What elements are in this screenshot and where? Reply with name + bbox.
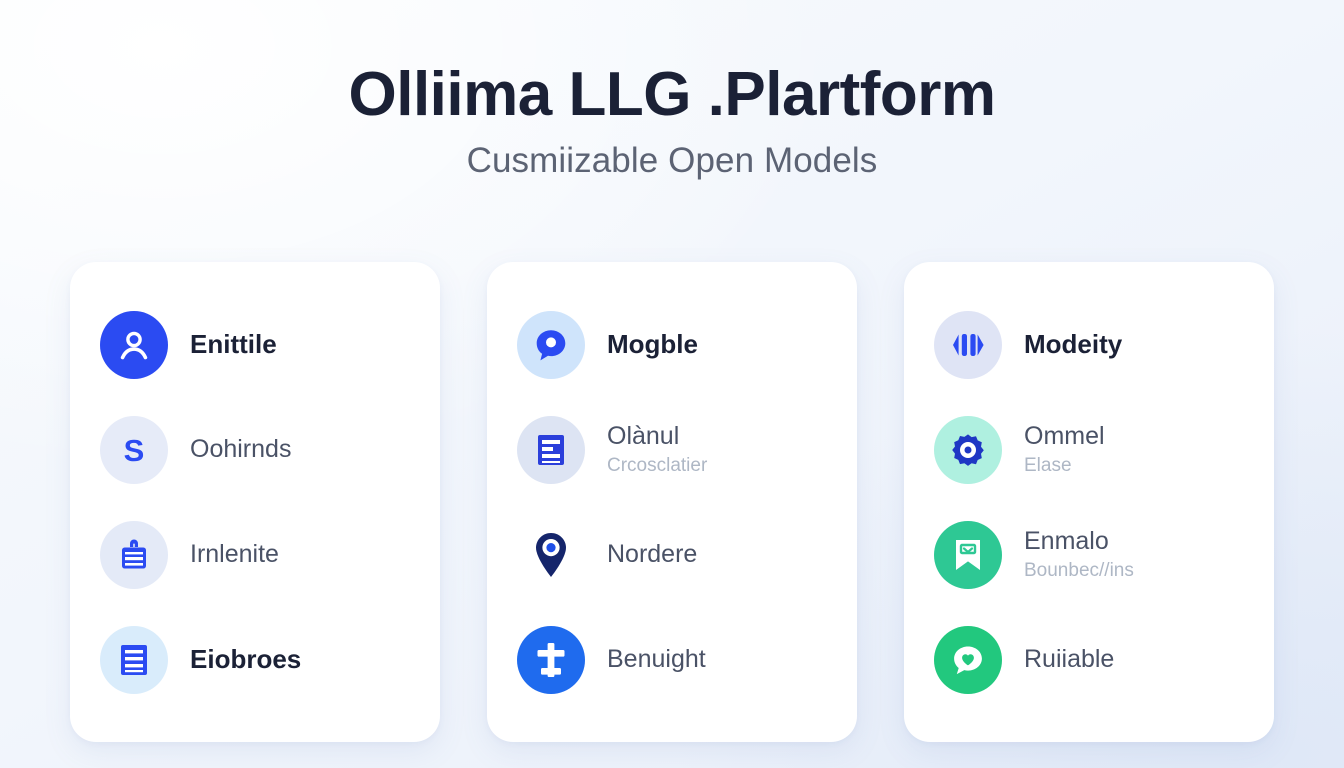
- bookmark-icon: [934, 521, 1002, 589]
- list-item-text: Oohirnds: [190, 435, 291, 465]
- list-item-label: Oohirnds: [190, 435, 291, 465]
- list-item[interactable]: Modeity: [934, 292, 1246, 397]
- list-item[interactable]: Ruiiable: [934, 607, 1246, 712]
- list-item[interactable]: OmmelElase: [934, 397, 1246, 502]
- list-item-label: Mogble: [607, 329, 698, 360]
- briefcase-icon: [100, 521, 168, 589]
- list-item-text: Mogble: [607, 329, 698, 360]
- list-item-text: Eiobroes: [190, 644, 301, 675]
- list-item-label: Enittile: [190, 329, 277, 360]
- list-item-label: Benuight: [607, 645, 706, 675]
- list-item-text: OmmelElase: [1024, 422, 1105, 477]
- signpost-icon: [517, 626, 585, 694]
- list-item[interactable]: Mogble: [517, 292, 829, 397]
- list-item-text: Modeity: [1024, 329, 1122, 360]
- list-item-label: Enmalo: [1024, 527, 1134, 557]
- page-subtitle: Cusmiizable Open Models: [0, 142, 1344, 181]
- list-item-text: Enittile: [190, 329, 277, 360]
- list-item-text: Nordere: [607, 540, 697, 570]
- document-icon: [517, 416, 585, 484]
- page-title: Olliima LLG .Plartform: [0, 62, 1344, 128]
- chat-bubble-icon: [517, 311, 585, 379]
- list-item[interactable]: Eiobroes: [100, 607, 412, 712]
- cards-row: EnittileSOohirndsIrnleniteEiobroesMogble…: [70, 262, 1274, 742]
- list-item-label: Modeity: [1024, 329, 1122, 360]
- split-arrows-icon: [934, 311, 1002, 379]
- list-item[interactable]: SOohirnds: [100, 397, 412, 502]
- list-item-label: Ruiiable: [1024, 645, 1114, 675]
- letter-s-icon: S: [100, 416, 168, 484]
- list-item-label: Nordere: [607, 540, 697, 570]
- list-item-label: Eiobroes: [190, 644, 301, 675]
- list-item-sublabel: Elase: [1024, 455, 1105, 477]
- page-header: Olliima LLG .Plartform Cusmiizable Open …: [0, 62, 1344, 180]
- list-item[interactable]: EnmaloBounbec//ins: [934, 502, 1246, 607]
- document-lines-icon: [100, 626, 168, 694]
- list-item[interactable]: OlànulCrcosclatier: [517, 397, 829, 502]
- list-item[interactable]: Irnlenite: [100, 502, 412, 607]
- list-item[interactable]: Enittile: [100, 292, 412, 397]
- list-item-text: Irnlenite: [190, 540, 279, 570]
- user-icon: [100, 311, 168, 379]
- svg-text:S: S: [124, 433, 145, 468]
- list-item-label: Olànul: [607, 422, 707, 452]
- card-one: EnittileSOohirndsIrnleniteEiobroes: [70, 262, 440, 742]
- list-item[interactable]: Benuight: [517, 607, 829, 712]
- list-item-text: OlànulCrcosclatier: [607, 422, 707, 477]
- card-two: MogbleOlànulCrcosclatierNordereBenuight: [487, 262, 857, 742]
- list-item-text: Benuight: [607, 645, 706, 675]
- list-item[interactable]: Nordere: [517, 502, 829, 607]
- gear-icon: [934, 416, 1002, 484]
- map-pin-icon: [517, 521, 585, 589]
- list-item-text: EnmaloBounbec//ins: [1024, 527, 1134, 582]
- list-item-sublabel: Crcosclatier: [607, 455, 707, 477]
- page-root: Olliima LLG .Plartform Cusmiizable Open …: [0, 0, 1344, 768]
- list-item-label: Irnlenite: [190, 540, 279, 570]
- list-item-label: Ommel: [1024, 422, 1105, 452]
- chat-heart-icon: [934, 626, 1002, 694]
- card-three: ModeityOmmelElaseEnmaloBounbec//insRuiia…: [904, 262, 1274, 742]
- list-item-sublabel: Bounbec//ins: [1024, 560, 1134, 582]
- list-item-text: Ruiiable: [1024, 645, 1114, 675]
